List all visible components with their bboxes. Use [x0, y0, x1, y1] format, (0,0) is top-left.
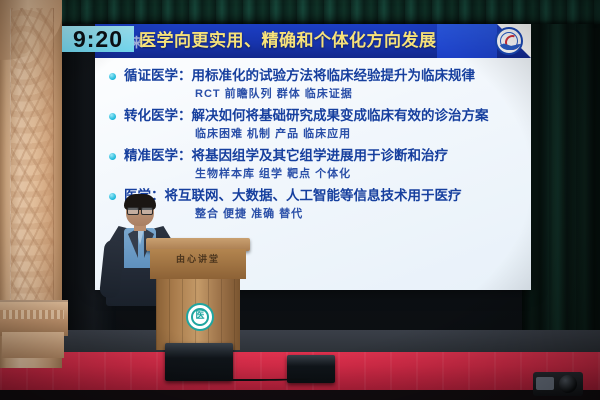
podium-column: 医	[156, 279, 240, 350]
clock-overlay-time: 9:20	[62, 24, 134, 54]
presenter-glasses-icon	[127, 207, 153, 213]
podium-emblem-glyph: 医	[188, 310, 212, 320]
camera-lens-icon	[559, 375, 577, 393]
auditorium-photo: 未来 医学向更实用、精确和个体化方向发展 循证医学：用标准化的试验方法将临床经验…	[0, 0, 600, 400]
bullet-text: 精准医学：将基因组学及其它组学进展用于诊断和治疗	[124, 146, 448, 165]
bullet-dot-icon	[109, 113, 116, 120]
bullet-item: 精准医学：将基因组学及其它组学进展用于诊断和治疗 生物样本库 组学 靶点 个体化	[109, 146, 523, 182]
lectern-podium: 由心讲堂 医	[150, 238, 246, 350]
podium-venue-nameplate: 由心讲堂	[150, 252, 246, 265]
bullet-text: 循证医学：用标准化的试验方法将临床经验提升为临床规律	[124, 66, 475, 85]
pillar-base	[0, 300, 68, 336]
bullet-text: 转化医学：解决如何将基础研究成果变成临床有效的诊治方案	[124, 106, 489, 125]
bullet-keywords: RCT 前瞻队列 群体 临床证据	[195, 86, 523, 102]
video-camera	[533, 372, 583, 396]
bullet-item: 转化医学：解决如何将基础研究成果变成临床有效的诊治方案 临床困难 机制 产品 临…	[109, 106, 523, 142]
stage-front-edge	[0, 390, 600, 400]
camera-screen	[536, 377, 554, 390]
pillar-foot	[2, 332, 64, 358]
bullet-item: 循证医学：用标准化的试验方法将临床经验提升为临床规律 RCT 前瞻队列 群体 临…	[109, 66, 523, 102]
bullet-dot-icon	[109, 153, 116, 160]
floor-cable	[180, 376, 310, 381]
bullet-keywords: 临床困难 机制 产品 临床应用	[195, 126, 523, 142]
pillar-carving	[10, 8, 54, 338]
institution-logo-icon	[495, 27, 523, 55]
slide-title: 医学向更实用、精确和个体化方向发展	[139, 29, 469, 55]
ornate-pillar-left	[0, 0, 62, 368]
stage-drape-right	[522, 24, 600, 364]
bullet-keywords: 整合 便捷 准确 替代	[195, 206, 523, 222]
bullet-dot-icon	[109, 73, 116, 80]
podium-emblem-icon: 医	[186, 303, 214, 331]
bullet-keywords: 生物样本库 组学 靶点 个体化	[195, 166, 523, 182]
